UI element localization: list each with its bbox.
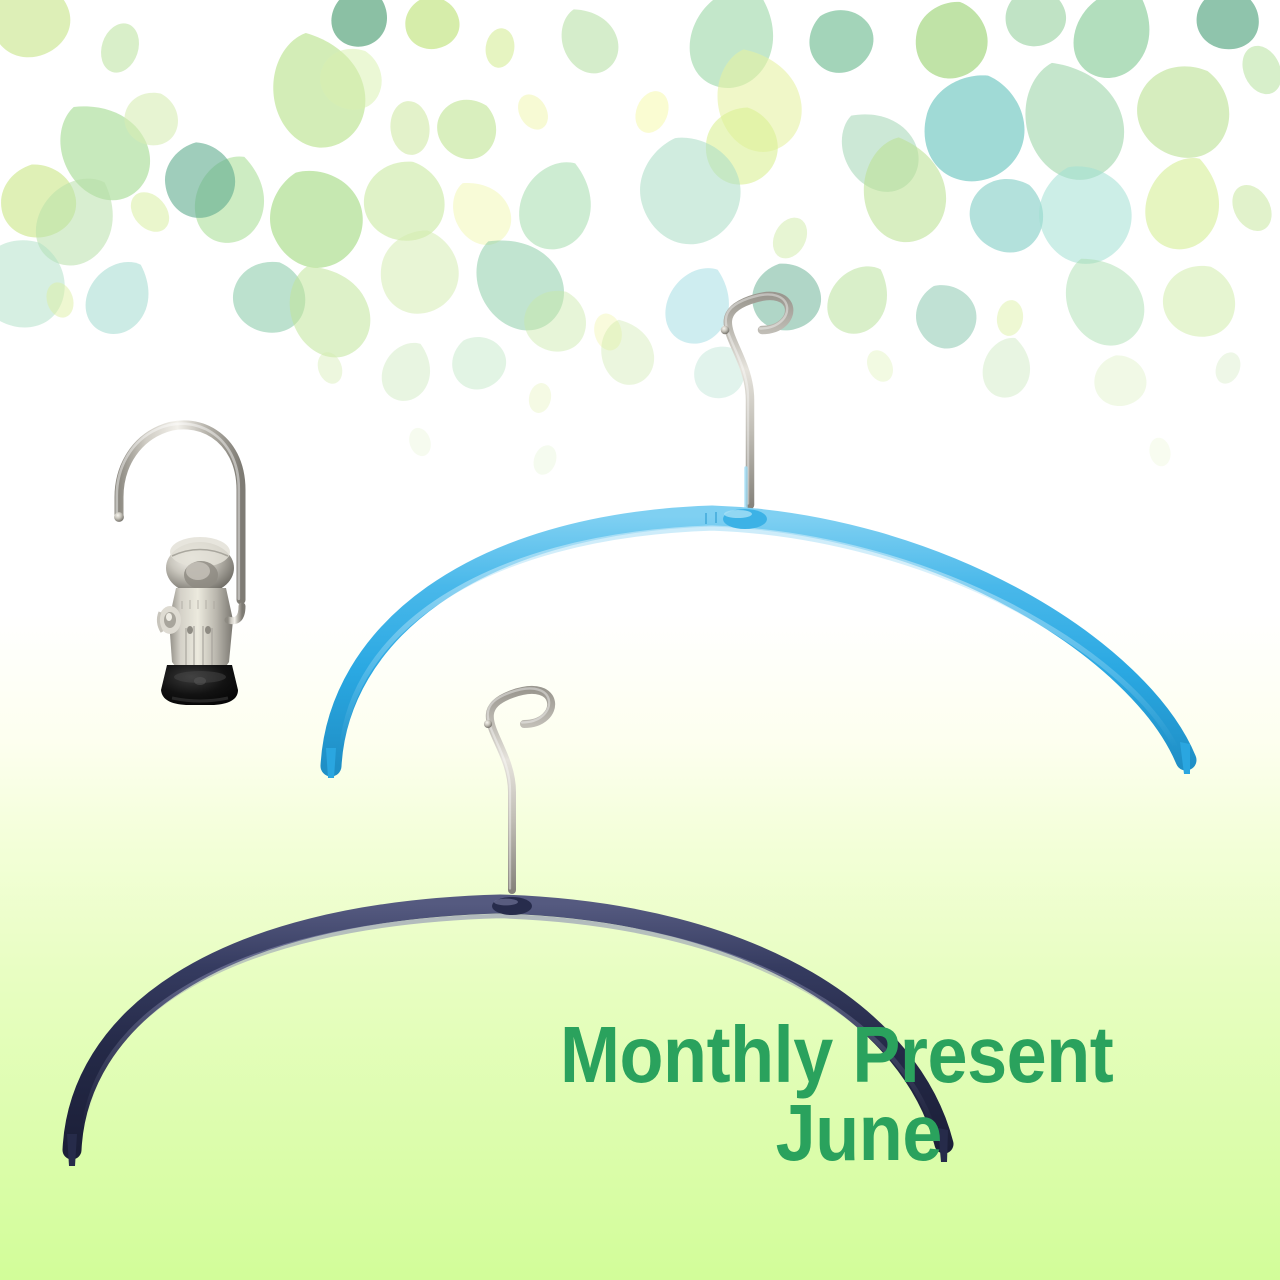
poster-canvas: Monthly Present June (0, 0, 1280, 1280)
product-clip-hanger (114, 424, 242, 705)
poster-caption: Monthly Present June (560, 1016, 1154, 1171)
product-blue-hanger (326, 294, 1190, 778)
caption-line-monthly-present: Monthly Present (560, 1016, 1154, 1094)
caption-line-month: June (544, 1094, 1174, 1172)
